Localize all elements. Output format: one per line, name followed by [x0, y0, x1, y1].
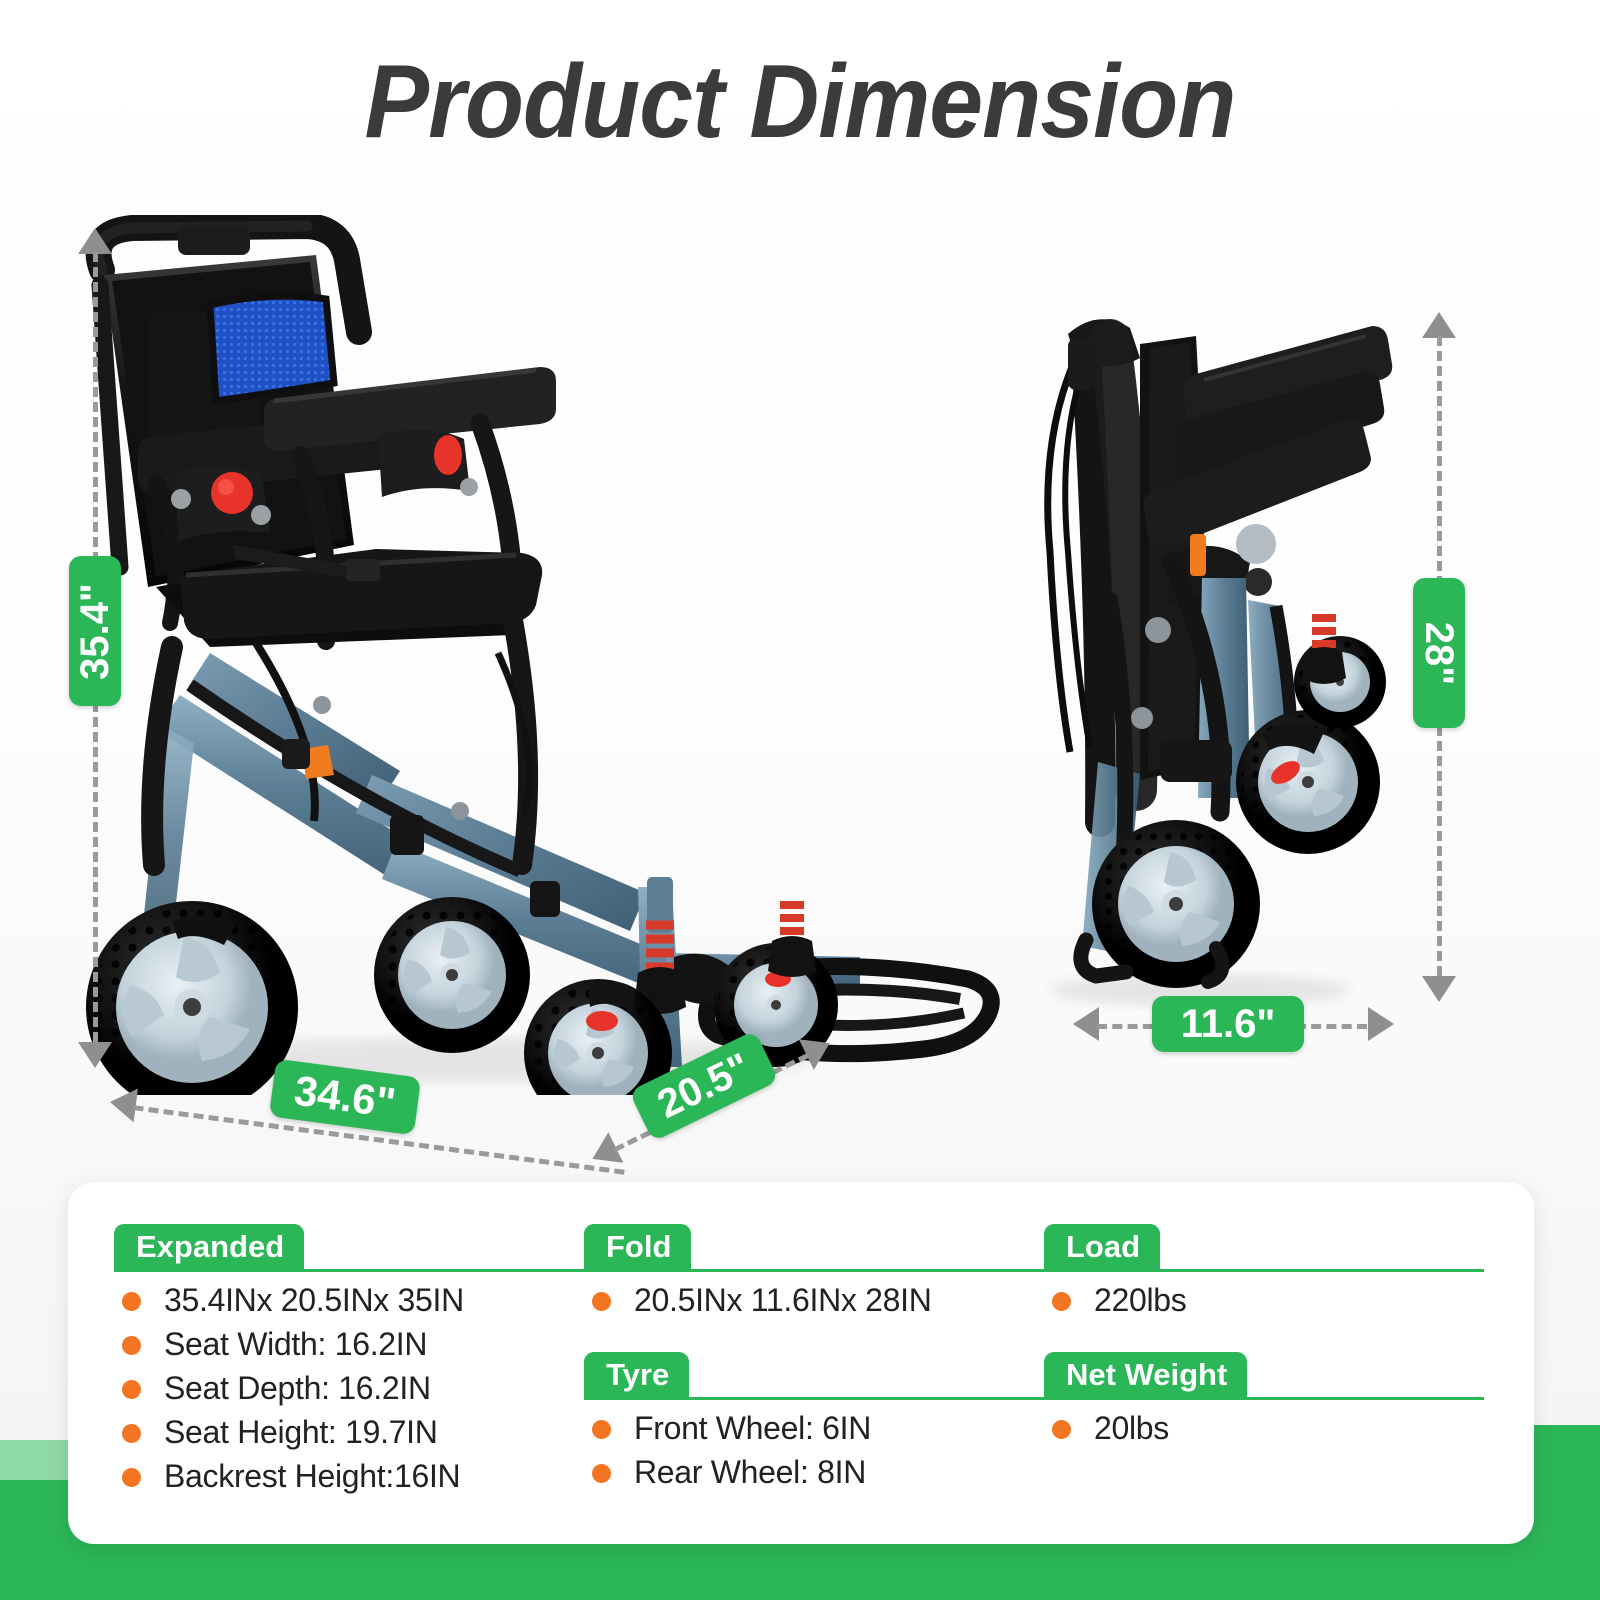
- spec-item-text: 35.4INx 20.5INx 35IN: [164, 1282, 464, 1319]
- dimension-arrow-down-right: [1422, 976, 1456, 1002]
- spec-item-text: 220lbs: [1094, 1282, 1187, 1319]
- spacer: [584, 1326, 1044, 1352]
- badge-folded-width-text: 11.6": [1181, 1002, 1276, 1047]
- spec-item: Backrest Height:16IN: [118, 1458, 584, 1495]
- dimension-arrow-left-bottom: [108, 1085, 138, 1122]
- infographic-canvas: Product Dimension: [0, 0, 1600, 1600]
- spec-heading-tyre: Tyre: [584, 1352, 689, 1398]
- spec-item: Seat Width: 16.2IN: [118, 1326, 584, 1363]
- page-title: Product Dimension: [56, 48, 1544, 157]
- spec-item-text: Seat Width: 16.2IN: [164, 1326, 427, 1363]
- specifications-card: Expanded 35.4INx 20.5INx 35IN Seat Width…: [68, 1182, 1534, 1544]
- spec-item: 20lbs: [1048, 1410, 1484, 1447]
- spec-section-header-expanded: Expanded: [114, 1224, 584, 1272]
- spec-item-text: Backrest Height:16IN: [164, 1458, 460, 1495]
- badge-expanded-height: 35.4": [69, 556, 121, 706]
- spec-heading-load: Load: [1044, 1224, 1160, 1270]
- bullet-dot-icon: [588, 1289, 634, 1313]
- spec-item-text: 20lbs: [1094, 1410, 1169, 1447]
- spec-heading-net-weight: Net Weight: [1044, 1352, 1247, 1398]
- dimension-arrow-right-depth: [799, 1028, 837, 1070]
- badge-expanded-length-text: 34.6": [291, 1067, 398, 1128]
- dimension-arrow-up-right: [1422, 312, 1456, 338]
- spec-section-header-fold: Fold: [584, 1224, 1044, 1272]
- spec-item: Seat Height: 19.7IN: [118, 1414, 584, 1451]
- spec-item-text: Seat Height: 19.7IN: [164, 1414, 438, 1451]
- spacer: [1044, 1326, 1484, 1352]
- bullet-dot-icon: [1048, 1289, 1094, 1313]
- folded-wheelchair-image: [990, 300, 1410, 1020]
- spec-heading-expanded: Expanded: [114, 1224, 304, 1270]
- bullet-dot-icon: [588, 1417, 634, 1441]
- bottom-green-band: [0, 1542, 1600, 1600]
- spec-section-header-tyre: Tyre: [584, 1352, 1044, 1400]
- spec-item: 35.4INx 20.5INx 35IN: [118, 1282, 584, 1319]
- spec-section-header-load: Load: [1044, 1224, 1484, 1272]
- bullet-dot-icon: [1048, 1417, 1094, 1441]
- dimension-arrow-down-left: [78, 1042, 112, 1068]
- bullet-dot-icon: [588, 1461, 634, 1485]
- expanded-wheelchair-image: [60, 215, 1020, 1095]
- bullet-dot-icon: [118, 1377, 164, 1401]
- badge-expanded-height-text: 35.4": [73, 583, 118, 680]
- dimension-arrow-left-width: [1073, 1007, 1099, 1041]
- spec-section-header-net-weight: Net Weight: [1044, 1352, 1484, 1400]
- spec-item: 220lbs: [1048, 1282, 1484, 1319]
- badge-folded-width: 11.6": [1152, 996, 1304, 1052]
- bullet-dot-icon: [118, 1289, 164, 1313]
- spec-item-text: Front Wheel: 6IN: [634, 1410, 871, 1447]
- spec-item-text: Rear Wheel: 8IN: [634, 1454, 866, 1491]
- bullet-dot-icon: [118, 1465, 164, 1489]
- spec-item-text: Seat Depth: 16.2IN: [164, 1370, 431, 1407]
- badge-folded-height-text: 28": [1417, 621, 1462, 684]
- bullet-dot-icon: [118, 1421, 164, 1445]
- badge-folded-height: 28": [1413, 578, 1465, 728]
- bullet-dot-icon: [118, 1333, 164, 1357]
- spec-column-load-weight: Load 220lbs Net Weight 20lbs: [1044, 1224, 1484, 1544]
- spec-item: Seat Depth: 16.2IN: [118, 1370, 584, 1407]
- spec-item: 20.5INx 11.6INx 28IN: [588, 1282, 1044, 1319]
- spec-column-fold-tyre: Fold 20.5INx 11.6INx 28IN Tyre Front Whe…: [584, 1224, 1044, 1544]
- spec-column-expanded: Expanded 35.4INx 20.5INx 35IN Seat Width…: [114, 1224, 584, 1544]
- dimension-arrow-up-left: [78, 228, 112, 254]
- spec-item-text: 20.5INx 11.6INx 28IN: [634, 1282, 932, 1319]
- spec-item: Front Wheel: 6IN: [588, 1410, 1044, 1447]
- dimension-arrow-right-width: [1368, 1007, 1394, 1041]
- spec-heading-fold: Fold: [584, 1224, 691, 1270]
- spec-item: Rear Wheel: 8IN: [588, 1454, 1044, 1491]
